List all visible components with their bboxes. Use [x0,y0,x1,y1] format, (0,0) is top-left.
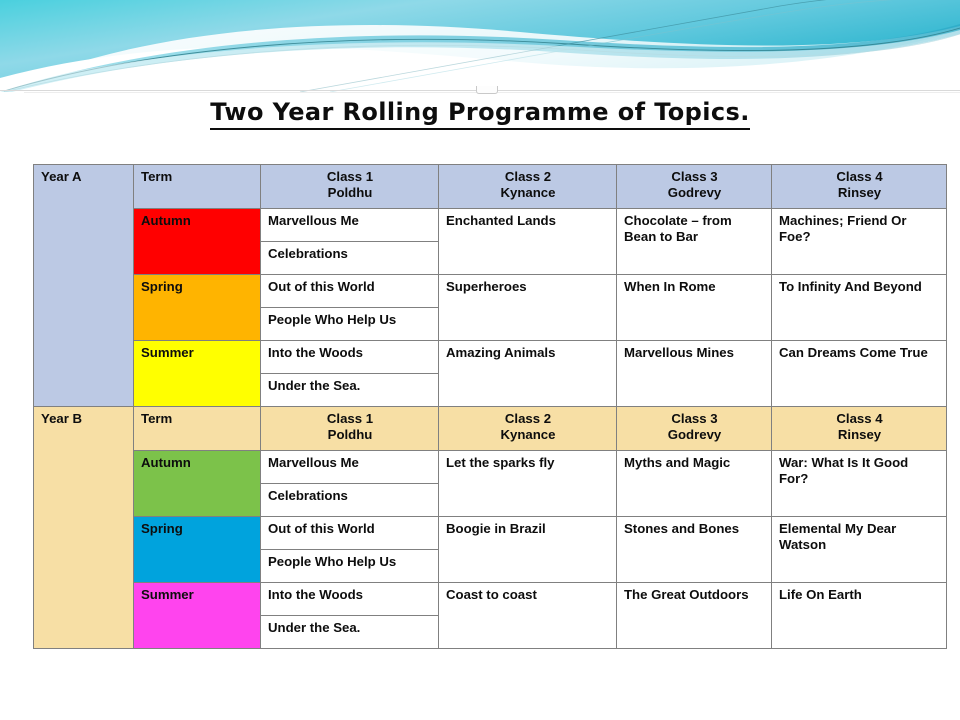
topic-class4-autumn-b: War: What Is It Good For? [772,451,947,517]
slide-tab-notch [476,86,498,94]
topic-class2-autumn-b: Let the sparks fly [439,451,617,517]
class4-subtitle: Rinsey [779,185,940,201]
topic-class3-autumn-a: Chocolate – from Bean to Bar [617,209,772,275]
topic-class1-spring-b-2: People Who Help Us [261,550,439,583]
class4-title: Class 4 [836,411,882,426]
page-title-text: Two Year Rolling Programme of Topics. [210,98,749,130]
year-a-summer-row-1: Summer Into the Woods Amazing Animals Ma… [34,341,947,374]
topic-class1-summer-b-1: Into the Woods [261,583,439,616]
year-a-label: Year A [34,165,134,407]
term-cell-summer-a: Summer [134,341,261,407]
term-cell-autumn-b: Autumn [134,451,261,517]
class2-subtitle: Kynance [446,185,610,201]
topic-class4-spring-b: Elemental My Dear Watson [772,517,947,583]
year-a-autumn-row-1: Autumn Marvellous Me Enchanted Lands Cho… [34,209,947,242]
page-title: Two Year Rolling Programme of Topics. [0,98,960,130]
year-b-class2-header: Class 2 Kynance [439,407,617,451]
term-cell-summer-b: Summer [134,583,261,649]
wave-graphic [0,0,960,92]
year-b-class4-header: Class 4 Rinsey [772,407,947,451]
topic-class2-spring-a: Superheroes [439,275,617,341]
topic-class3-summer-b: The Great Outdoors [617,583,772,649]
topic-class1-spring-a-1: Out of this World [261,275,439,308]
class1-subtitle: Poldhu [268,185,432,201]
year-b-label: Year B [34,407,134,649]
term-cell-spring-a: Spring [134,275,261,341]
year-b-header-row: Year B Term Class 1 Poldhu Class 2 Kynan… [34,407,947,451]
term-cell-spring-b: Spring [134,517,261,583]
topic-class1-autumn-b-2: Celebrations [261,484,439,517]
class4-subtitle: Rinsey [779,427,940,443]
topic-class1-summer-a-2: Under the Sea. [261,374,439,407]
topic-class1-summer-b-2: Under the Sea. [261,616,439,649]
topic-class3-spring-b: Stones and Bones [617,517,772,583]
topic-class1-autumn-b-1: Marvellous Me [261,451,439,484]
topic-class1-spring-b-1: Out of this World [261,517,439,550]
topic-class4-summer-b: Life On Earth [772,583,947,649]
year-b-autumn-row-1: Autumn Marvellous Me Let the sparks fly … [34,451,947,484]
class3-subtitle: Godrevy [624,185,765,201]
topic-class4-autumn-a: Machines; Friend Or Foe? [772,209,947,275]
topic-class3-summer-a: Marvellous Mines [617,341,772,407]
class2-subtitle: Kynance [446,427,610,443]
year-a-spring-row-1: Spring Out of this World Superheroes Whe… [34,275,947,308]
topic-class1-autumn-a-2: Celebrations [261,242,439,275]
year-a-term-header: Term [134,165,261,209]
year-b-summer-row-1: Summer Into the Woods Coast to coast The… [34,583,947,616]
class2-title: Class 2 [505,169,551,184]
class3-title: Class 3 [671,411,717,426]
topic-class2-summer-b: Coast to coast [439,583,617,649]
class1-title: Class 1 [327,411,373,426]
year-b-class1-header: Class 1 Poldhu [261,407,439,451]
year-b-spring-row-1: Spring Out of this World Boogie in Brazi… [34,517,947,550]
topic-class3-autumn-b: Myths and Magic [617,451,772,517]
term-cell-autumn-a: Autumn [134,209,261,275]
year-a-class4-header: Class 4 Rinsey [772,165,947,209]
class1-subtitle: Poldhu [268,427,432,443]
year-a-class1-header: Class 1 Poldhu [261,165,439,209]
class1-title: Class 1 [327,169,373,184]
topic-class4-summer-a: Can Dreams Come True [772,341,947,407]
class4-title: Class 4 [836,169,882,184]
rolling-programme-table: Year A Term Class 1 Poldhu Class 2 Kynan… [33,164,947,649]
slide-header-banner [0,0,960,92]
year-b-term-header: Term [134,407,261,451]
class3-subtitle: Godrevy [624,427,765,443]
topic-class1-summer-a-1: Into the Woods [261,341,439,374]
year-a-class2-header: Class 2 Kynance [439,165,617,209]
topic-class2-spring-b: Boogie in Brazil [439,517,617,583]
year-a-header-row: Year A Term Class 1 Poldhu Class 2 Kynan… [34,165,947,209]
year-a-class3-header: Class 3 Godrevy [617,165,772,209]
topic-class1-autumn-a-1: Marvellous Me [261,209,439,242]
class2-title: Class 2 [505,411,551,426]
topic-class2-autumn-a: Enchanted Lands [439,209,617,275]
topic-class1-spring-a-2: People Who Help Us [261,308,439,341]
year-b-class3-header: Class 3 Godrevy [617,407,772,451]
topic-class4-spring-a: To Infinity And Beyond [772,275,947,341]
topic-class2-summer-a: Amazing Animals [439,341,617,407]
class3-title: Class 3 [671,169,717,184]
topic-class3-spring-a: When In Rome [617,275,772,341]
